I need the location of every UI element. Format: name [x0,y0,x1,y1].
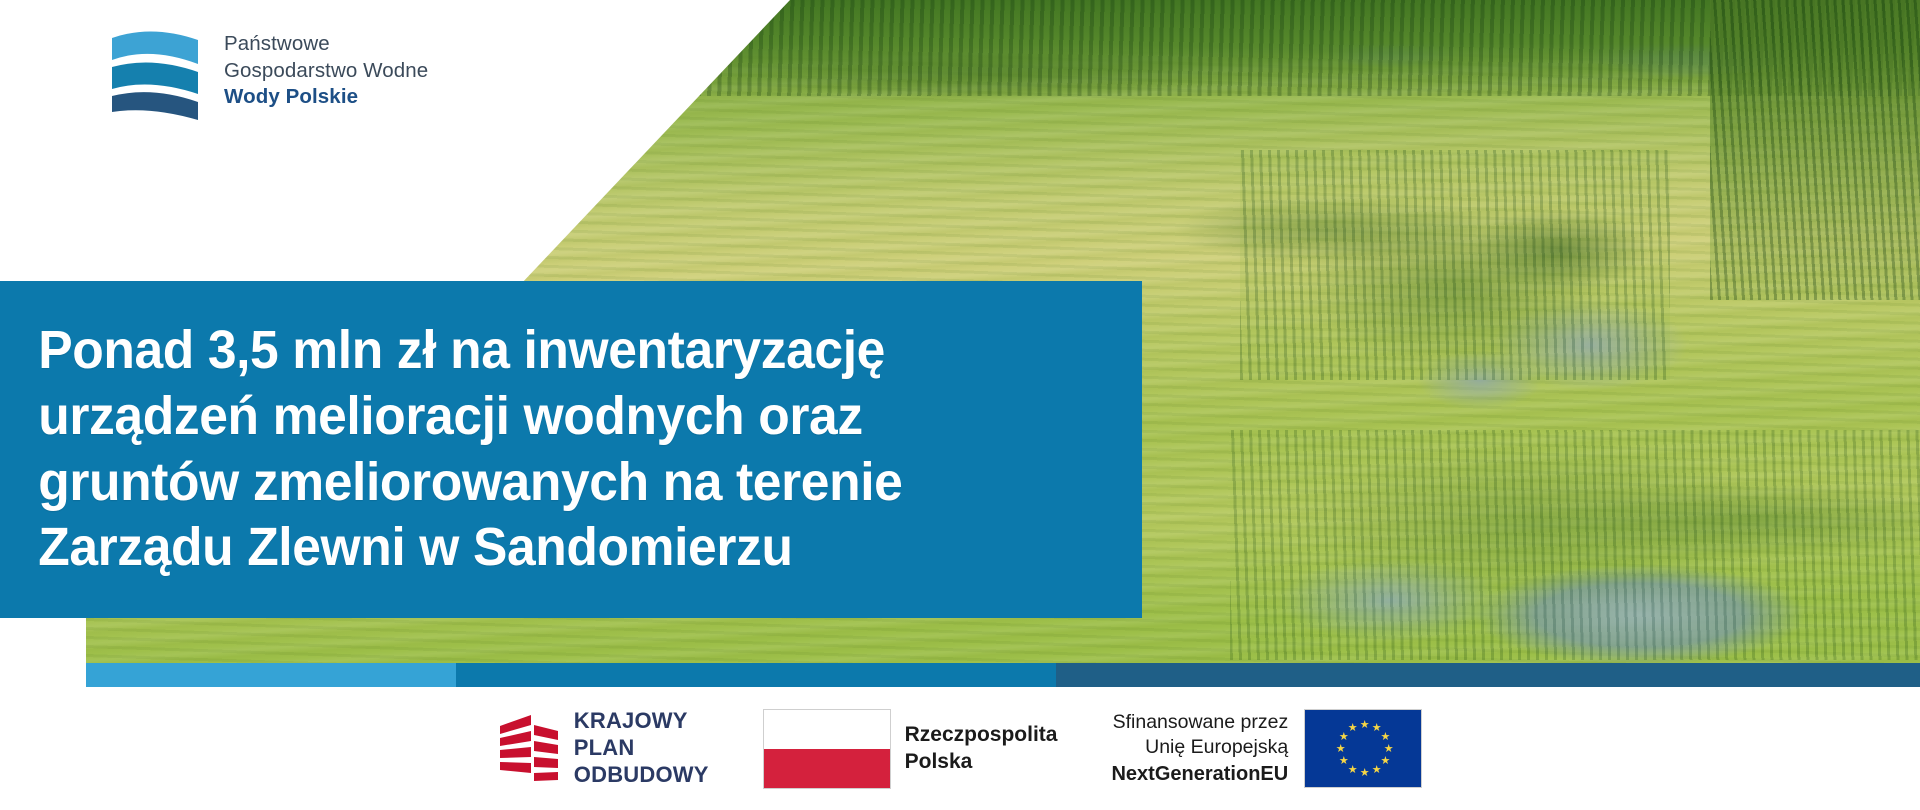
eu-star-icon: ★ [1339,757,1348,766]
eu-star-icon: ★ [1380,733,1389,742]
eu-logo[interactable]: Sfinansowane przez Unię Europejską NextG… [1111,709,1422,788]
photo-reeds-lower [1230,430,1920,660]
poland-flag-white-stripe [764,710,890,749]
kpo-line-2: PLAN [574,735,709,762]
poland-logo-text: Rzeczpospolita Polska [905,722,1058,775]
eu-line-3: NextGenerationEU [1111,761,1288,787]
krajowy-plan-odbudowy-icon [498,712,560,784]
headline-text: Ponad 3,5 mln zł na inwentaryzację urząd… [0,318,922,580]
eu-line-2: Unię Europejską [1111,735,1288,761]
headline-line-4: Zarządu Zlewni w Sandomierzu [38,515,902,581]
kpo-line-1: KRAJOWY [574,708,709,735]
funding-logos-footer: KRAJOWY PLAN ODBUDOWY Rzeczpospolita Pol… [0,687,1920,810]
eu-star-icon: ★ [1360,721,1369,730]
headline-line-3: gruntów zmeliorowanych na terenie [38,450,902,516]
kpo-logo[interactable]: KRAJOWY PLAN ODBUDOWY [498,708,709,788]
wody-polskie-wave-logo-icon [104,20,206,122]
brand-line-2: Gospodarstwo Wodne [224,58,428,85]
kpo-logo-text: KRAJOWY PLAN ODBUDOWY [574,708,709,788]
brand-line-3: Wody Polskie [224,84,428,111]
kpo-line-3: ODBUDOWY [574,762,709,789]
eu-star-icon: ★ [1339,733,1348,742]
photo-reeds-middle [1240,150,1670,380]
eu-star-icon: ★ [1348,724,1357,733]
eu-star-icon: ★ [1372,766,1381,775]
eu-logo-text: Sfinansowane przez Unię Europejską NextG… [1111,710,1288,788]
poland-logo[interactable]: Rzeczpospolita Polska [763,709,1058,789]
eu-line-1: Sfinansowane przez [1111,710,1288,736]
poland-flag-icon [763,709,891,789]
eu-star-icon: ★ [1336,745,1345,754]
eu-star-icon: ★ [1372,724,1381,733]
accent-bar-segment-2 [456,663,1056,687]
headline-box: Ponad 3,5 mln zł na inwentaryzację urząd… [0,281,1142,618]
poland-line-2: Polska [905,749,1058,775]
eu-star-icon: ★ [1384,745,1393,754]
eu-star-icon: ★ [1380,757,1389,766]
brand-line-1: Państwowe [224,31,428,58]
headline-line-1: Ponad 3,5 mln zł na inwentaryzację [38,318,902,384]
accent-bar-segment-3 [1056,663,1920,687]
headline-line-2: urządzeń melioracji wodnych oraz [38,384,902,450]
brand-logo[interactable]: Państwowe Gospodarstwo Wodne Wody Polski… [104,20,428,122]
brand-logo-text: Państwowe Gospodarstwo Wodne Wody Polski… [224,31,428,111]
photo-reeds-right [1710,0,1920,300]
poland-line-1: Rzeczpospolita [905,722,1058,748]
accent-bar-segment-1 [86,663,456,687]
banner: Państwowe Gospodarstwo Wodne Wody Polski… [0,0,1920,810]
eu-star-icon: ★ [1348,766,1357,775]
european-union-flag-icon: ★★★★★★★★★★★★ [1304,709,1422,788]
poland-flag-red-stripe [764,749,890,788]
eu-star-icon: ★ [1360,769,1369,778]
accent-bar [86,663,1920,687]
